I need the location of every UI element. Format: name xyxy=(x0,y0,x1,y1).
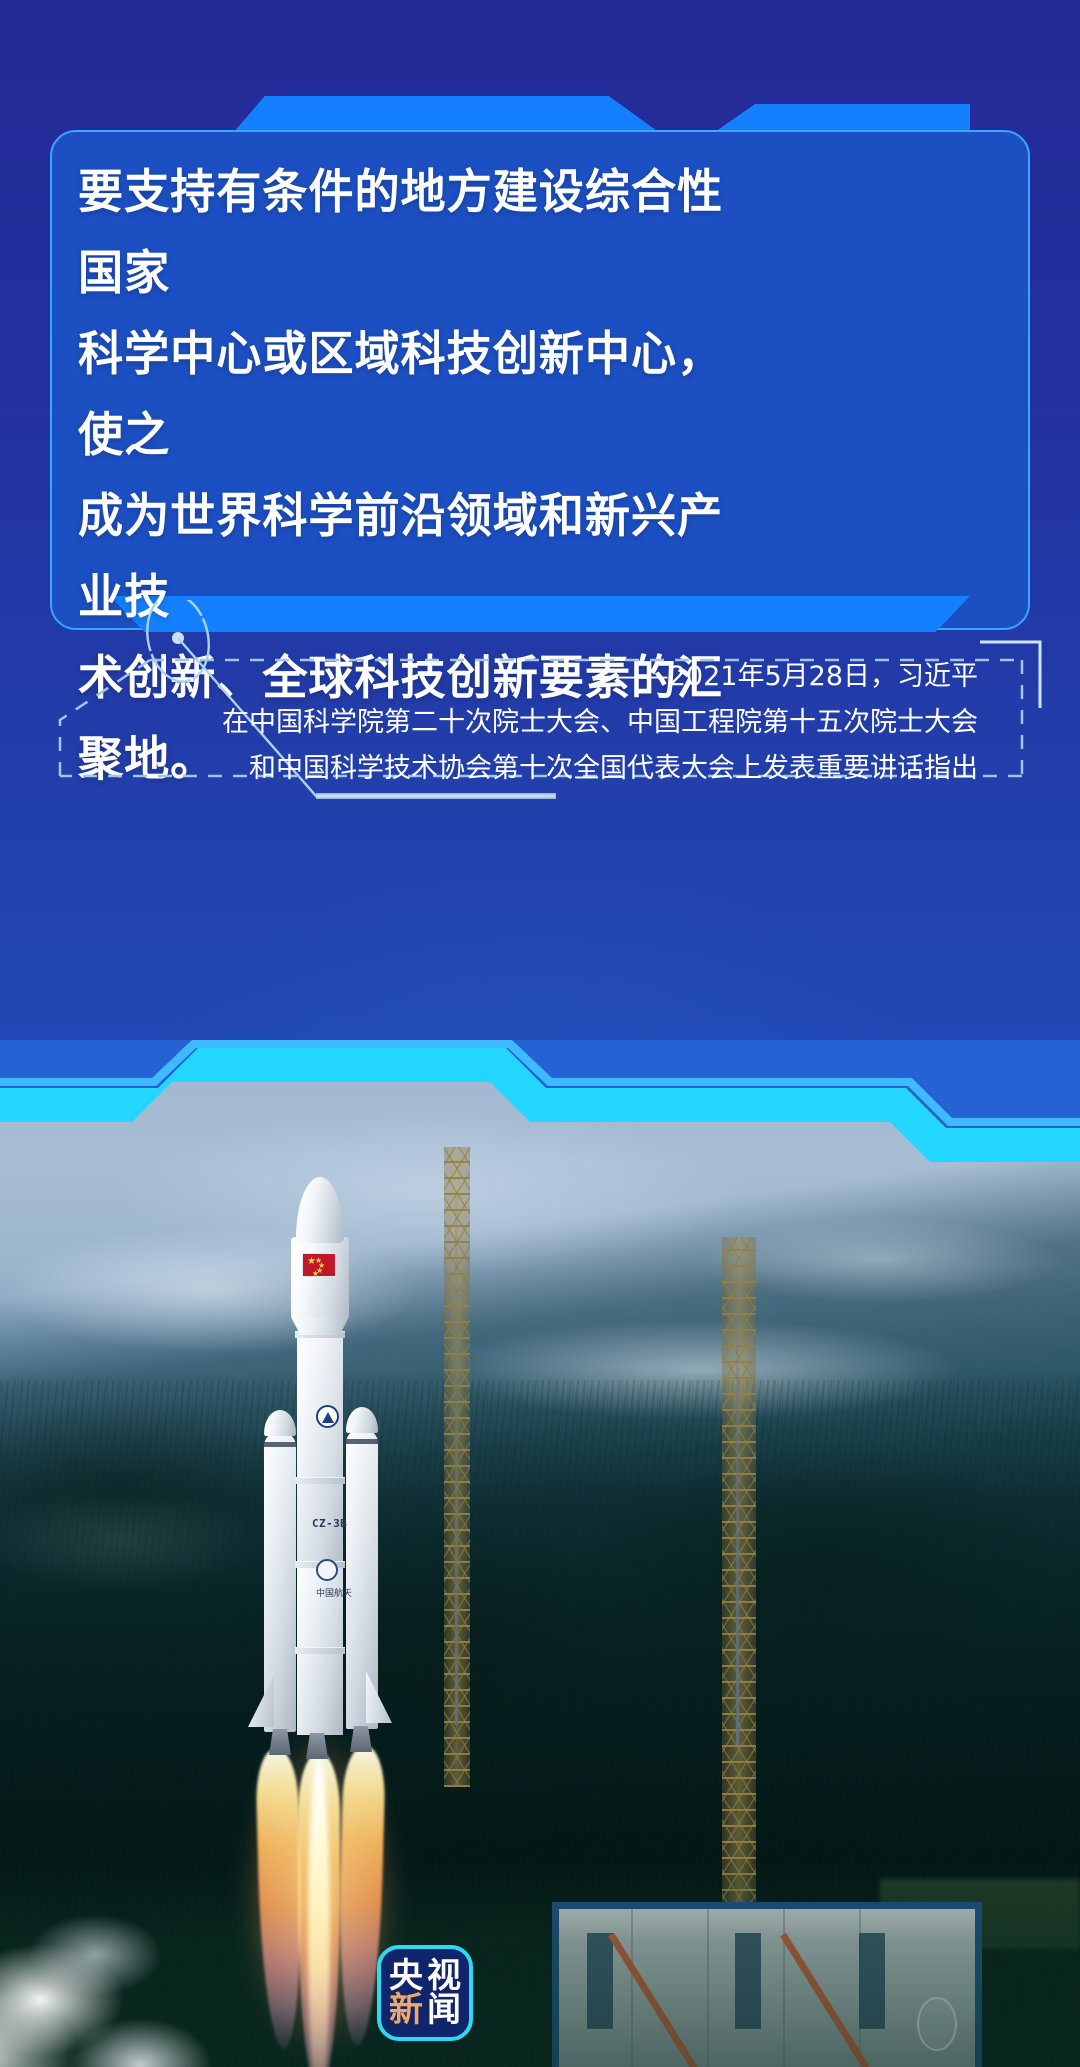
cctv-news-logo[interactable]: 央 视 新 闻 xyxy=(377,1945,473,2041)
rocket-ring xyxy=(295,1477,345,1484)
poster-root: 要支持有条件的地方建设综合性国家 科学中心或区域科技创新中心，使之 成为世界科学… xyxy=(0,0,1080,2067)
booster-band xyxy=(264,1442,296,1447)
attribution-text: ——2021年5月28日，习近平 在中国科学院第二十次院士大会、中国工程院第十五… xyxy=(44,654,994,792)
lightning-mast-right xyxy=(736,1245,739,1745)
lightning-mast-left xyxy=(455,1195,458,1725)
rocket-agency-text: 中国航天 xyxy=(316,1589,352,1600)
logo-char-yang: 央 xyxy=(387,1959,425,1993)
launch-photo: ★ ★ ★ ★ ★ CZ-3B 中国航天 xyxy=(0,1040,1080,2067)
rocket-designation: CZ-3B xyxy=(312,1517,347,1530)
logo-char-shi: 视 xyxy=(425,1959,463,1993)
payload-fairing xyxy=(291,1237,349,1319)
quote-section: 要支持有条件的地方建设综合性国家 科学中心或区域科技创新中心，使之 成为世界科学… xyxy=(0,96,1080,676)
rocket-stage-one xyxy=(297,1335,343,1565)
booster-nose xyxy=(264,1410,296,1436)
engine-nozzle xyxy=(350,1726,372,1752)
logo-char-wen: 闻 xyxy=(425,1993,463,2027)
attribution-section: ——2021年5月28日，习近平 在中国科学院第二十次院士大会、中国工程院第十五… xyxy=(0,640,1080,770)
logo-char-xin: 新 xyxy=(387,1993,425,2027)
booster-nose xyxy=(346,1407,378,1433)
booster-band xyxy=(346,1439,378,1444)
booster-right xyxy=(346,1429,378,1729)
attribution-box: ——2021年5月28日，习近平 在中国科学院第二十次院士大会、中国工程院第十五… xyxy=(44,640,994,750)
rocket-cz3b: ★ ★ ★ ★ ★ CZ-3B 中国航天 xyxy=(258,1177,382,1877)
rocket-ring xyxy=(295,1647,345,1654)
logo-line-2: 新 闻 xyxy=(387,1993,463,2027)
launch-smoke-plume xyxy=(0,1850,350,2067)
rocket-nose-cone xyxy=(296,1177,344,1243)
casc-logo-icon xyxy=(316,1405,339,1428)
china-flag-icon: ★ ★ ★ ★ ★ xyxy=(302,1253,336,1277)
agency-seal-icon xyxy=(316,1559,338,1581)
logo-line-1: 央 视 xyxy=(387,1959,463,1993)
